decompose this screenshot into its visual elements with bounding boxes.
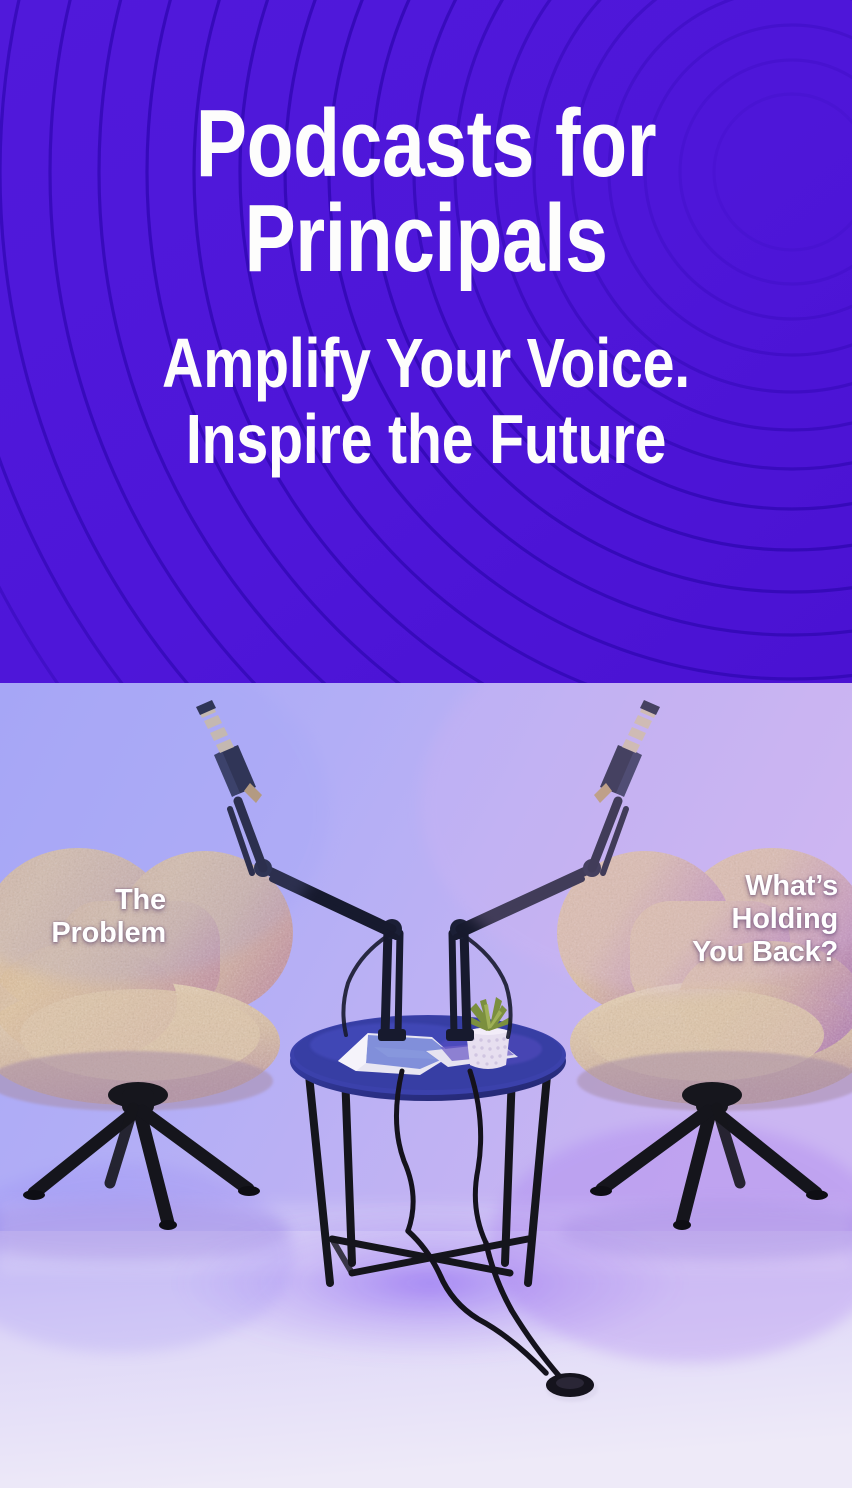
page-title: Podcasts for Principals [2,96,850,286]
studio-photo-illustration [0,683,852,1488]
poster-canvas: Podcasts for Principals Amplify Your Voi… [0,0,852,1488]
page-subtitle: Amplify Your Voice. Inspire the Future [4,326,849,477]
hero-panel: Podcasts for Principals Amplify Your Voi… [0,0,852,683]
overlay-label-the-problem: The Problem [0,884,166,950]
hero-text-block: Podcasts for Principals Amplify Your Voi… [0,0,852,683]
studio-photo [0,683,852,1488]
overlay-label-whats-holding-you-back: What’s Holding You Back? [620,870,845,969]
